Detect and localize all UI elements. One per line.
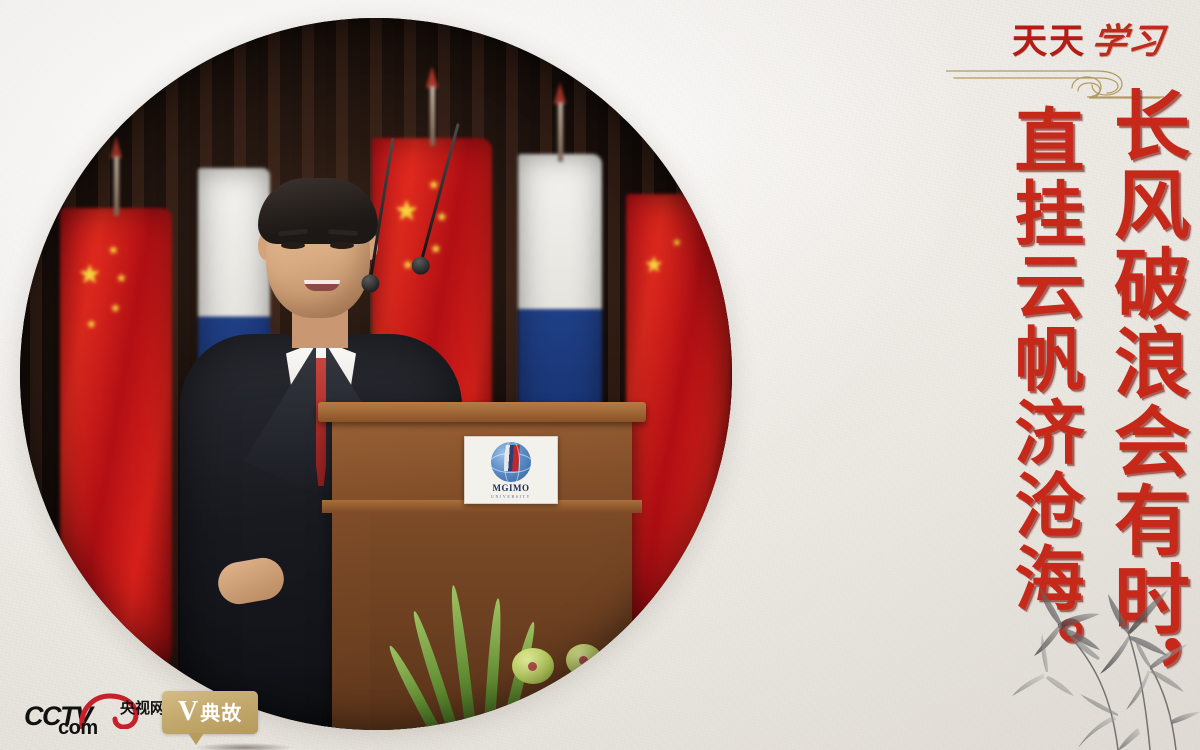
speaker-eye-right — [330, 242, 354, 249]
flag-star: ★ — [86, 318, 97, 330]
flag-pole — [558, 102, 563, 162]
poster-canvas: ★ ★ ★ ★ ★ ★ ★ ★ ★ ★ ★ ★ — [0, 0, 1200, 750]
plant-leaf — [448, 585, 479, 730]
brand-text-row: 天天学习 — [1012, 24, 1164, 59]
speaker-photo-circle: ★ ★ ★ ★ ★ ★ ★ ★ ★ ★ ★ ★ — [20, 18, 732, 730]
orchid-flower — [592, 676, 626, 706]
speaker-eye-left — [281, 242, 305, 249]
brand-logo-tiantian-xuexi[interactable]: 天天学习 — [1012, 24, 1164, 59]
emblem-subtitle: UNIVERSITY — [491, 494, 531, 499]
bamboo-ink-painting — [1000, 520, 1200, 750]
flag-star: ★ — [116, 272, 127, 284]
cctv-domain-text: com — [58, 717, 98, 740]
flag-finial — [426, 66, 438, 88]
book-icon — [504, 445, 520, 471]
emblem-name: MGIMO — [493, 483, 530, 493]
brand-text-script: 学习 — [1090, 24, 1166, 59]
cctv-logo-main: CCTV com 央视网 — [24, 693, 148, 733]
vdiangu-label: 典故 — [200, 704, 242, 724]
speaker-hair — [258, 178, 378, 244]
cctv-logo[interactable]: CCTV com 央视网 — [24, 693, 148, 733]
flag-pole — [114, 156, 119, 216]
globe-icon — [491, 442, 531, 482]
vdiangu-letter: V — [178, 698, 198, 726]
photo-stage: ★ ★ ★ ★ ★ ★ ★ ★ ★ ★ ★ ★ — [20, 18, 732, 730]
orchid-flower — [542, 688, 588, 726]
flag-finial — [554, 82, 566, 104]
brand-text-bold: 天天 — [1012, 22, 1086, 61]
podium-emblem-mgimo: MGIMO UNIVERSITY — [464, 436, 558, 504]
flag-pole — [430, 86, 435, 146]
flag-star: ★ — [78, 262, 101, 288]
flag-china-far-left: ★ ★ ★ ★ ★ — [60, 208, 172, 678]
plant-leaf — [482, 598, 504, 730]
flag-star: ★ — [110, 302, 121, 314]
flag-star: ★ — [672, 238, 682, 249]
flag-finial — [110, 136, 122, 158]
orchid-flower — [512, 648, 554, 684]
cctv-chinese-name: 央视网 — [120, 697, 165, 718]
badge-drop-shadow — [196, 743, 292, 750]
orchid-center — [560, 703, 569, 712]
flag-star: ★ — [108, 244, 119, 256]
flag-star: ★ — [644, 254, 664, 276]
footer-logos: CCTV com 央视网 V 典故 — [24, 691, 258, 734]
podium-plants — [416, 538, 636, 730]
speaker-mouth — [304, 280, 340, 291]
orchid-center — [528, 662, 537, 671]
orchid-center — [579, 656, 588, 665]
vdiangu-badge-wrapper[interactable]: V 典故 — [162, 691, 258, 734]
vdiangu-badge[interactable]: V 典故 — [162, 691, 258, 734]
orchid-flower — [566, 644, 602, 676]
podium-top-surface — [318, 402, 646, 422]
